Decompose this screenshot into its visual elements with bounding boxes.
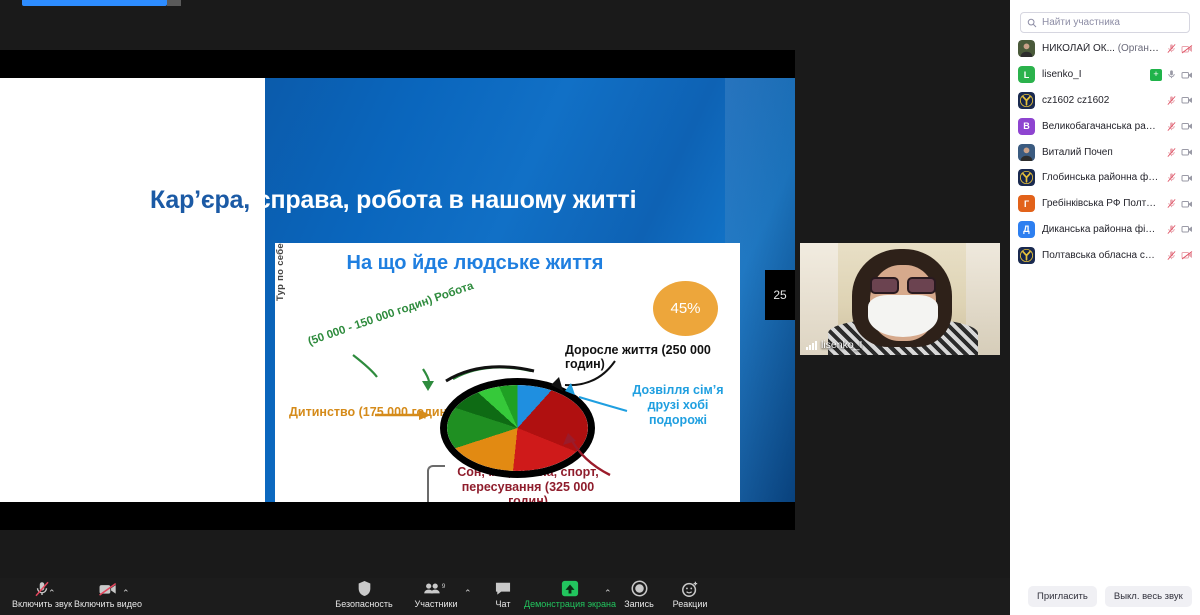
infographic-card: На що йде людське життя 45% 19% 36% (50 …: [275, 243, 740, 502]
video-tile-name-label: lisenko_I: [821, 339, 862, 351]
toolbar-reactions-label: Реакции: [673, 599, 708, 609]
share-badge-icon: +: [1150, 69, 1162, 81]
audio-caret-icon[interactable]: ⌃: [48, 588, 56, 599]
microphone-muted-icon[interactable]: [1166, 224, 1177, 235]
slide-title: Кар’єра, справа, робота в нашому житті: [150, 186, 750, 215]
mute-all-button[interactable]: Выкл. весь звук: [1105, 586, 1192, 607]
arrow-heads: [419, 377, 576, 445]
slide-title-light: справа, робота в нашому житті: [250, 186, 636, 214]
signal-icon: [806, 341, 817, 350]
toolbar-participants-label: Участники: [415, 599, 458, 609]
camera-icon[interactable]: [1181, 95, 1194, 105]
video-tile-lisenko[interactable]: lisenko_I: [800, 243, 1000, 355]
camera-icon[interactable]: [1181, 224, 1194, 234]
avatar: [1018, 40, 1035, 57]
mute-all-label: Выкл. весь звук: [1114, 591, 1183, 602]
slide-title-dark: Кар’єра,: [150, 186, 250, 214]
participant-status-icons: [1166, 95, 1194, 106]
toolbar-security-label: Безопасность: [335, 599, 392, 609]
microphone-muted-icon[interactable]: [1166, 147, 1177, 158]
avatar: [1018, 144, 1035, 161]
participant-name: Полтавська обласна служба зай...: [1042, 250, 1159, 261]
microphone-muted-icon[interactable]: [1166, 250, 1177, 261]
face-mask: [868, 295, 938, 337]
camera-muted-icon[interactable]: [1181, 250, 1194, 260]
microphone-muted-icon[interactable]: [1166, 172, 1177, 183]
participant-row[interactable]: Глобинська районна філія: [1010, 165, 1200, 191]
camera-muted-icon[interactable]: [1181, 44, 1194, 54]
shield-icon: [357, 580, 372, 597]
search-icon: [1027, 18, 1037, 28]
participant-row[interactable]: ГГребінківська РФ Полтавського ...: [1010, 191, 1200, 217]
participant-name: Гребінківська РФ Полтавського ...: [1042, 198, 1159, 209]
microphone-muted-icon[interactable]: [1166, 198, 1177, 209]
search-input[interactable]: Найти участника: [1042, 17, 1120, 28]
video-caret-icon[interactable]: ⌃: [122, 588, 130, 599]
presentation-slide: Кар’єра, справа, робота в нашому житті Н…: [0, 78, 795, 502]
participant-row[interactable]: ВВеликобагачанська районна філ...: [1010, 113, 1200, 139]
participant-name: Диканська районна філія Полта...: [1042, 224, 1159, 235]
participant-status-icons: [1166, 224, 1194, 235]
participant-status-icons: [1166, 172, 1194, 183]
participant-row[interactable]: НИКОЛАЙ ОК... (Организатор, я): [1010, 36, 1200, 62]
participant-status-icons: [1166, 147, 1194, 158]
participants-panel: Найти участника НИКОЛАЙ ОК... (Организат…: [1010, 0, 1200, 578]
slide-number-indicator: 25: [765, 270, 795, 320]
meeting-toolbar: Включить звук ⌃ Включить видео ⌃ Безопас…: [0, 578, 1010, 615]
toolbar-chat-label: Чат: [496, 599, 511, 609]
participant-name: Великобагачанська районна філ...: [1042, 121, 1159, 132]
participant-row[interactable]: cz1602 cz1602: [1010, 88, 1200, 114]
camera-icon[interactable]: [1181, 121, 1194, 131]
org-logo-icon: [1018, 247, 1035, 264]
participant-status-icons: [1166, 250, 1194, 261]
toolbar-video-label: Включить видео: [74, 599, 142, 609]
participant-row[interactable]: Полтавська обласна служба зай...: [1010, 242, 1200, 268]
participant-status-icons: [1166, 198, 1194, 209]
microphone-icon[interactable]: [1166, 69, 1177, 80]
avatar: В: [1018, 118, 1035, 135]
participant-status-icons: [1166, 121, 1194, 132]
toolbar-video-button[interactable]: Включить видео: [66, 580, 150, 609]
microphone-muted-icon[interactable]: [1166, 95, 1177, 106]
svg-text:9: 9: [442, 583, 446, 590]
avatar: [1018, 169, 1035, 186]
avatar-photo: [1018, 144, 1035, 161]
org-logo-icon: [1018, 169, 1035, 186]
avatar: [1018, 92, 1035, 109]
microphone-muted-icon[interactable]: [1166, 43, 1177, 54]
microphone-muted-icon[interactable]: [1166, 121, 1177, 132]
avatar: [1018, 247, 1035, 264]
participant-row[interactable]: Llisenko_I+: [1010, 62, 1200, 88]
org-logo-icon: [1018, 92, 1035, 109]
avatar: Д: [1018, 221, 1035, 238]
participant-status-icons: +: [1150, 69, 1194, 81]
arrow-group: [275, 243, 740, 502]
glasses-icon: [870, 277, 936, 294]
avatar: L: [1018, 66, 1035, 83]
toolbar-audio-label: Включить звук: [12, 599, 72, 609]
participant-role: (Организатор, я): [1118, 43, 1159, 54]
participants-footer-bar: Пригласить Выкл. весь звук ...: [1010, 578, 1200, 615]
reactions-icon: [681, 580, 699, 597]
share-screen-icon: [560, 580, 580, 597]
participant-row[interactable]: Виталий Почеп: [1010, 139, 1200, 165]
participant-name: lisenko_I: [1042, 69, 1143, 80]
camera-icon[interactable]: [1181, 147, 1194, 157]
participant-row[interactable]: ДДиканська районна філія Полта...: [1010, 217, 1200, 243]
participant-status-icons: [1166, 43, 1194, 54]
search-participant-box[interactable]: Найти участника: [1020, 12, 1190, 33]
zoom-meeting-window: Кар’єра, справа, робота в нашому житті Н…: [0, 0, 1200, 615]
avatar: Г: [1018, 195, 1035, 212]
top-blue-strip: [22, 0, 167, 6]
camera-icon[interactable]: [1181, 70, 1194, 80]
camera-muted-icon: [98, 580, 118, 597]
toolbar-reactions-button[interactable]: Реакции: [648, 580, 732, 609]
video-tile-name: lisenko_I: [806, 339, 862, 351]
participants-list[interactable]: НИКОЛАЙ ОК... (Организатор, я)Llisenko_I…: [1010, 36, 1200, 268]
participant-name: НИКОЛАЙ ОК... (Организатор, я): [1042, 43, 1159, 54]
participant-name: Виталий Почеп: [1042, 147, 1159, 158]
record-icon: [631, 580, 648, 597]
invite-button[interactable]: Пригласить: [1028, 586, 1097, 607]
shared-screen-stage[interactable]: Кар’єра, справа, робота в нашому житті Н…: [0, 50, 795, 530]
top-strip-tail: [167, 0, 181, 6]
participant-name: Глобинська районна філія: [1042, 172, 1159, 183]
participant-name: cz1602 cz1602: [1042, 95, 1159, 106]
camera-icon[interactable]: [1181, 173, 1194, 183]
camera-icon[interactable]: [1181, 199, 1194, 209]
avatar-photo: [1018, 40, 1035, 57]
chat-icon: [494, 580, 512, 597]
slide-number-value: 25: [773, 288, 786, 302]
participants-icon: 9: [423, 580, 449, 597]
invite-label: Пригласить: [1037, 591, 1088, 602]
